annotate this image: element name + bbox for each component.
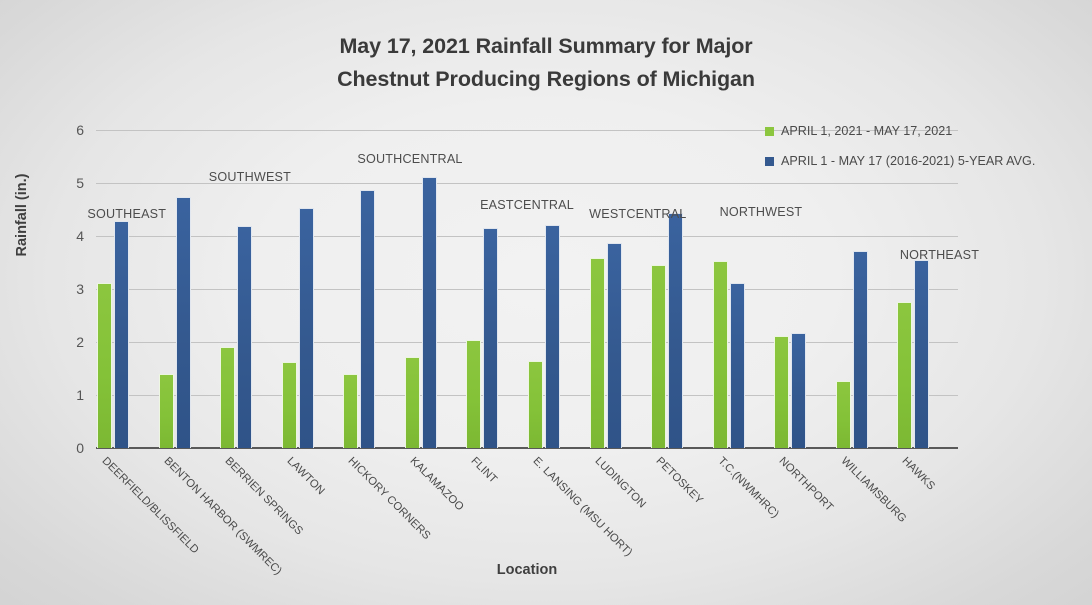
- x-axis-title: Location: [96, 562, 958, 578]
- x-axis-category-label: HAWKS: [900, 455, 938, 493]
- bar-group[interactable]: LUDINGTON: [589, 130, 651, 448]
- bar-group[interactable]: HICKORY CORNERS: [342, 130, 404, 448]
- x-axis-category-label: WILLIAMSBURG: [838, 455, 908, 525]
- bar-current-year[interactable]: [774, 336, 789, 448]
- bar-current-year[interactable]: [282, 362, 297, 448]
- legend-swatch-icon: [765, 157, 774, 166]
- bar-five-year-avg[interactable]: [545, 225, 560, 448]
- bar-five-year-avg[interactable]: [299, 208, 314, 448]
- region-annotation-label: SOUTHWEST: [209, 170, 291, 184]
- bar-current-year[interactable]: [528, 361, 543, 448]
- bar-group[interactable]: E. LANSING (MSU HORT): [527, 130, 589, 448]
- x-axis-category-label: LUDINGTON: [592, 455, 648, 511]
- bar-current-year[interactable]: [343, 374, 358, 448]
- legend-item-label: APRIL 1 - MAY 17 (2016-2021) 5-YEAR AVG.: [781, 154, 1035, 168]
- x-axis-category-label: LAWTON: [284, 455, 326, 497]
- bar-current-year[interactable]: [713, 261, 728, 448]
- bar-current-year[interactable]: [405, 357, 420, 448]
- bar-current-year[interactable]: [897, 302, 912, 448]
- y-axis-tick-label: 5: [76, 175, 84, 191]
- bar-current-year[interactable]: [97, 283, 112, 448]
- x-axis-category-label: PETOSKEY: [654, 455, 706, 507]
- bar-five-year-avg[interactable]: [483, 228, 498, 448]
- bar-current-year[interactable]: [220, 347, 235, 448]
- rainfall-bar-chart: May 17, 2021 Rainfall Summary for Major …: [0, 0, 1092, 605]
- legend-item[interactable]: APRIL 1 - MAY 17 (2016-2021) 5-YEAR AVG.: [765, 154, 1065, 168]
- region-annotation-label: WESTCENTRAL: [589, 207, 686, 221]
- bar-group[interactable]: DEERFIELD/BLISSFIELD: [96, 130, 158, 448]
- y-axis-tick-label: 0: [76, 440, 84, 456]
- y-axis-tick-label: 4: [76, 228, 84, 244]
- bar-five-year-avg[interactable]: [114, 221, 129, 448]
- bar-five-year-avg[interactable]: [914, 260, 929, 448]
- bar-group[interactable]: FLINT: [465, 130, 527, 448]
- y-axis-tick-label: 2: [76, 334, 84, 350]
- y-axis-tick-label: 6: [76, 122, 84, 138]
- legend-swatch-icon: [765, 127, 774, 136]
- bar-five-year-avg[interactable]: [607, 243, 622, 448]
- bar-five-year-avg[interactable]: [422, 177, 437, 448]
- bar-five-year-avg[interactable]: [237, 226, 252, 448]
- region-annotation-label: EASTCENTRAL: [480, 198, 574, 212]
- bar-five-year-avg[interactable]: [730, 283, 745, 448]
- x-axis-category-label: BENTON HARBOR (SWMREC): [161, 455, 283, 577]
- chart-legend: APRIL 1, 2021 - MAY 17, 2021APRIL 1 - MA…: [765, 124, 1065, 184]
- legend-item[interactable]: APRIL 1, 2021 - MAY 17, 2021: [765, 124, 1065, 138]
- bar-current-year[interactable]: [651, 265, 666, 448]
- bar-current-year[interactable]: [590, 258, 605, 448]
- bar-five-year-avg[interactable]: [360, 190, 375, 448]
- x-axis-category-label: T.C.(NWMHRC): [715, 455, 781, 521]
- legend-item-label: APRIL 1, 2021 - MAY 17, 2021: [781, 124, 952, 138]
- region-annotation-label: NORTHWEST: [720, 205, 803, 219]
- bar-current-year[interactable]: [159, 374, 174, 448]
- region-annotation-label: NORTHEAST: [900, 248, 979, 262]
- y-axis-tick-label: 3: [76, 281, 84, 297]
- region-annotation-label: SOUTHEAST: [87, 207, 166, 221]
- bar-five-year-avg[interactable]: [668, 213, 683, 448]
- bar-group[interactable]: PETOSKEY: [650, 130, 712, 448]
- bar-current-year[interactable]: [836, 381, 851, 448]
- x-axis-category-label: KALAMAZOO: [407, 455, 465, 513]
- y-axis-title: Rainfall (in.): [14, 174, 30, 257]
- x-axis-category-label: NORTHPORT: [777, 455, 836, 514]
- y-axis-tick-label: 1: [76, 387, 84, 403]
- bar-current-year[interactable]: [466, 340, 481, 448]
- bar-five-year-avg[interactable]: [853, 251, 868, 448]
- x-axis-category-label: E. LANSING (MSU HORT): [531, 455, 635, 559]
- chart-title-line-2: Chestnut Producing Regions of Michigan: [0, 63, 1092, 96]
- chart-title: May 17, 2021 Rainfall Summary for Major …: [0, 30, 1092, 97]
- x-axis-category-label: FLINT: [469, 455, 500, 486]
- bar-five-year-avg[interactable]: [176, 197, 191, 448]
- bar-group[interactable]: KALAMAZOO: [404, 130, 466, 448]
- bar-five-year-avg[interactable]: [791, 333, 806, 448]
- region-annotation-label: SOUTHCENTRAL: [357, 152, 462, 166]
- chart-title-line-1: May 17, 2021 Rainfall Summary for Major: [0, 30, 1092, 63]
